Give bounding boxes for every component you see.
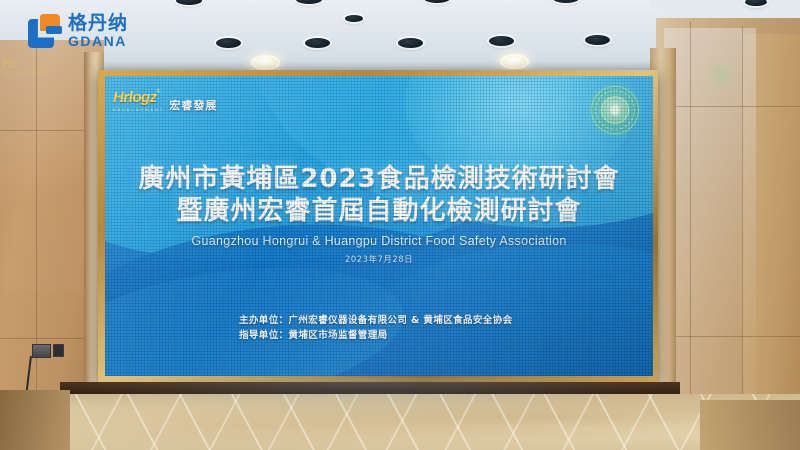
gdana-watermark: 格丹纳 GDANA <box>28 14 128 48</box>
floor-left-corner <box>0 390 70 450</box>
gdana-wordmark: 格丹纳 GDANA <box>68 14 128 48</box>
downlight-icon <box>398 38 423 48</box>
downlight-lit-icon <box>502 56 527 67</box>
led-screen[interactable]: Hrlogz® DEVELOPMENT 宏睿發展 廣州市黃埔區2023食品檢測技… <box>105 76 653 376</box>
downlight-lit-icon <box>253 57 278 68</box>
gdana-cn-text: 格丹纳 <box>68 14 128 33</box>
screen-sheen <box>105 76 653 376</box>
downlight-icon <box>345 15 363 22</box>
gdana-logo-icon <box>28 14 62 48</box>
wall-panel-seam <box>690 22 691 427</box>
wall-switch <box>53 344 64 357</box>
wall-outlet <box>32 344 51 358</box>
downlight-icon <box>305 38 330 48</box>
downlight-icon <box>216 38 241 48</box>
logo-reflection: HrDEVELOPMENT <box>2 54 50 73</box>
gdana-logo-blue-bar <box>46 26 62 34</box>
wall-panel-seam <box>656 336 800 337</box>
gdana-en-text: GDANA <box>68 34 128 48</box>
floor-right-corner <box>700 400 800 450</box>
screen-floor-glow <box>70 378 670 418</box>
downlight-icon <box>489 36 514 46</box>
emblem-reflection <box>706 60 736 90</box>
wall-panel-seam <box>656 106 800 107</box>
conference-room-photo: HrDEVELOPMENT Hrlogz® DEVELOPMENT 宏睿發展 <box>0 0 800 450</box>
downlight-icon <box>585 35 610 45</box>
wall-panel-seam <box>742 26 743 426</box>
